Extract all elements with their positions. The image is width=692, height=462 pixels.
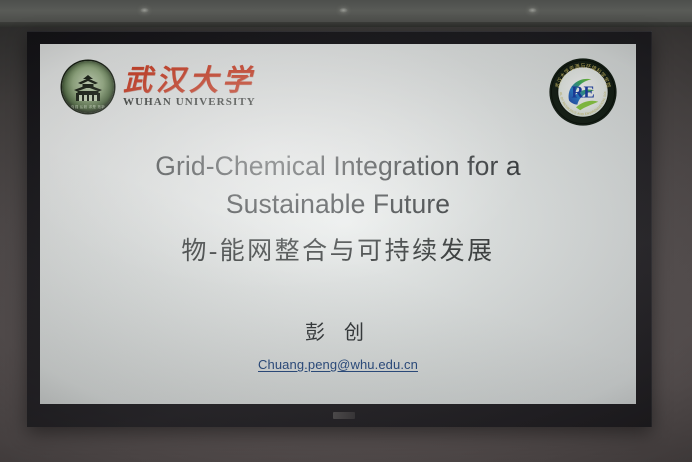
slide-title-block: Grid-Chemical Integration for a Sustaina…	[40, 148, 636, 267]
wuhan-university-crest-icon: 自强 弘毅 求是 拓新	[62, 61, 114, 113]
ceiling-downlight-icon	[528, 8, 537, 13]
crest-motto: 自强 弘毅 求是 拓新	[71, 105, 105, 110]
presenter-name: 彭 创	[40, 316, 636, 345]
whu-wordmark-english: WUHAN UNIVERSITY	[123, 97, 256, 108]
resources-environment-emblem-icon: 武汉大学资源与环境科学学院 SCHOOL OF RESOURCE AND ENV…	[548, 57, 618, 127]
bezel-brand-mark	[333, 412, 355, 419]
whu-wordmark: 武汉大学 WUHAN UNIVERSITY	[123, 67, 256, 108]
slide-subtitle-chinese: 物-能网整合与可持续发展	[40, 231, 636, 267]
ceiling-downlight-icon	[140, 8, 149, 13]
slide-title-line-2: Sustainable Future	[40, 186, 636, 224]
wuhan-university-logo: 自强 弘毅 求是 拓新 武汉大学 WUHAN UNIVERSITY	[62, 61, 256, 113]
presenter-block: 彭 创 Chuang.peng@whu.edu.cn	[40, 316, 636, 374]
re-monogram: RE	[571, 83, 594, 102]
lecture-room-photo: 自强 弘毅 求是 拓新 武汉大学 WUHAN UNIVERSITY	[0, 0, 692, 462]
presentation-slide: 自强 弘毅 求是 拓新 武汉大学 WUHAN UNIVERSITY	[40, 44, 636, 404]
presenter-email-link[interactable]: Chuang.peng@whu.edu.cn	[258, 357, 418, 372]
whu-wordmark-chinese: 武汉大学	[123, 67, 256, 96]
ceiling-downlight-icon	[339, 8, 348, 13]
old-library-building-icon	[68, 75, 108, 103]
slide-title-line-1: Grid-Chemical Integration for a	[40, 148, 636, 186]
